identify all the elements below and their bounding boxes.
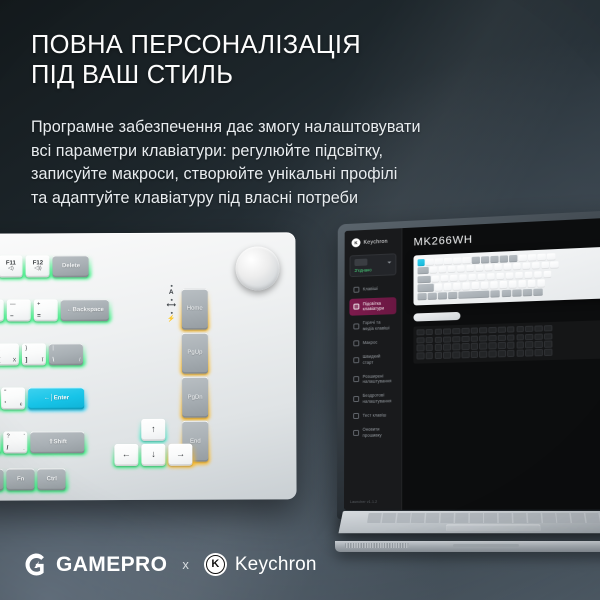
page-title: ПОВНА ПЕРСОНАЛІЗАЦІЯ ПІД ВАШ СТИЛЬ	[31, 30, 551, 90]
headline-line-1: ПОВНА ПЕРСОНАЛІЗАЦІЯ	[31, 30, 551, 60]
gamepro-wordmark: GAMEPRO	[56, 553, 167, 577]
keychron-wordmark: Keychron	[235, 554, 317, 576]
gamepro-logo: GAMEPRO	[24, 552, 167, 577]
keychron-logo: K Keychron	[204, 553, 317, 576]
body-line-1: Програмне забезпечення дає змогу налашто…	[31, 116, 576, 140]
body-line-2: всі параметри клавіатури: регулюйте підс…	[31, 140, 576, 164]
body-line-3: записуйте макроси, створюйте унікальні п…	[31, 163, 576, 187]
keychron-mark-icon: K	[204, 553, 227, 576]
body-line-4: та адаптуйте клавіатуру під власні потре…	[31, 187, 576, 211]
vignette-overlay	[0, 0, 600, 600]
footer-logos: GAMEPRO x K Keychron	[24, 552, 317, 577]
body-copy: Програмне забезпечення дає змогу налашто…	[31, 116, 576, 210]
gamepro-mark-icon	[24, 552, 49, 577]
collab-separator: x	[180, 557, 191, 572]
headline-line-2: ПІД ВАШ СТИЛЬ	[31, 60, 551, 90]
keychron-k-letter: K	[211, 559, 219, 570]
promo-banner: F8▶‖F9▷▷F10◁F11◁)F12◁))Delete*8(9)0—–+=←…	[0, 0, 600, 600]
